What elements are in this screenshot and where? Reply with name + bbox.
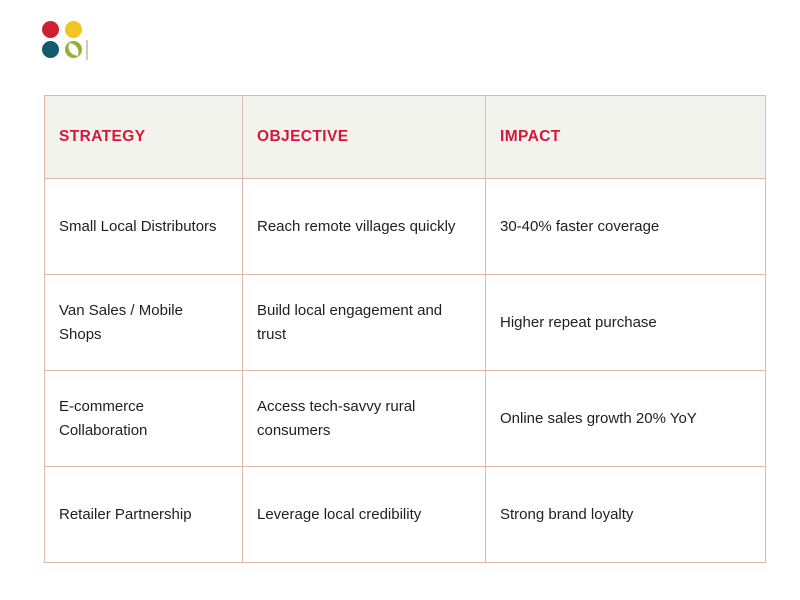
cell-objective: Build local engagement and trust [243, 275, 486, 371]
red-dot-icon [42, 21, 59, 38]
cell-objective: Leverage local credibility [243, 467, 486, 563]
cell-objective: Access tech-savvy rural consumers [243, 371, 486, 467]
teal-dot-icon [42, 41, 59, 58]
four-dot-leaf-logo [40, 20, 90, 60]
table-row: Van Sales / Mobile Shops Build local eng… [45, 275, 766, 371]
column-header-objective: OBJECTIVE [243, 96, 486, 179]
table-row: E-commerce Collaboration Access tech-sav… [45, 371, 766, 467]
cell-strategy: Small Local Distributors [45, 179, 243, 275]
column-header-impact: IMPACT [486, 96, 766, 179]
cell-strategy: E-commerce Collaboration [45, 371, 243, 467]
cell-impact: Online sales growth 20% YoY [486, 371, 766, 467]
cell-objective: Reach remote villages quickly [243, 179, 486, 275]
cell-strategy: Retailer Partnership [45, 467, 243, 563]
table-row: Retailer Partnership Leverage local cred… [45, 467, 766, 563]
slide-canvas: STRATEGY OBJECTIVE IMPACT Small Local Di… [0, 0, 800, 600]
cell-impact: Strong brand loyalty [486, 467, 766, 563]
logo-divider-bar [86, 40, 88, 60]
cell-impact: Higher repeat purchase [486, 275, 766, 371]
yellow-dot-icon [65, 21, 82, 38]
cell-strategy: Van Sales / Mobile Shops [45, 275, 243, 371]
strategy-matrix-table: STRATEGY OBJECTIVE IMPACT Small Local Di… [44, 95, 765, 558]
table-row: Small Local Distributors Reach remote vi… [45, 179, 766, 275]
column-header-strategy: STRATEGY [45, 96, 243, 179]
cell-impact: 30-40% faster coverage [486, 179, 766, 275]
table-header-row: STRATEGY OBJECTIVE IMPACT [45, 96, 766, 179]
